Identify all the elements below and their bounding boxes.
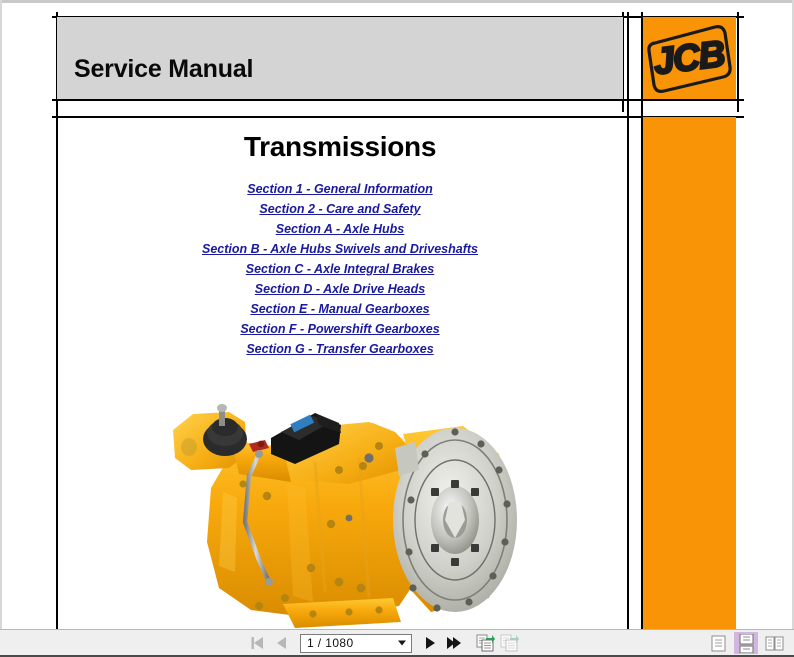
window-left-edge xyxy=(0,0,2,629)
continuous-page-view-button[interactable] xyxy=(734,632,758,654)
jcb-logo: JCB xyxy=(643,17,736,99)
first-page-icon xyxy=(250,636,266,650)
toc-link-section-f[interactable]: Section F - Powershift Gearboxes xyxy=(57,319,623,339)
toc-link-section-d[interactable]: Section D - Axle Drive Heads xyxy=(57,279,623,299)
toc-link-section-g[interactable]: Section G - Transfer Gearboxes xyxy=(57,339,623,359)
last-page-icon xyxy=(446,636,462,650)
page-sheet: Service Manual JCB Transmissions Sect xyxy=(0,0,794,629)
toc-link-section-b[interactable]: Section B - Axle Hubs Swivels and Drives… xyxy=(57,239,623,259)
previous-page-button[interactable] xyxy=(271,632,293,654)
toc-link-section-1[interactable]: Section 1 - General Information xyxy=(57,179,623,199)
next-view-icon xyxy=(500,634,520,652)
orange-side-column xyxy=(643,117,736,629)
single-page-view-icon xyxy=(711,635,726,652)
continuous-page-view-icon xyxy=(739,634,754,653)
facing-page-view-icon xyxy=(765,635,784,652)
window-top-edge xyxy=(0,0,794,3)
page-navigation-group: 1 / 1080 xyxy=(246,630,522,656)
document-viewport[interactable]: Service Manual JCB Transmissions Sect xyxy=(0,0,794,629)
view-mode-group xyxy=(704,630,788,656)
transmission-photo xyxy=(163,392,519,629)
toc-link-section-a[interactable]: Section A - Axle Hubs xyxy=(57,219,623,239)
content-title: Transmissions xyxy=(57,131,623,163)
previous-view-button[interactable] xyxy=(475,632,497,654)
pdf-toolbar: 1 / 1080 xyxy=(0,629,794,657)
previous-page-icon xyxy=(275,636,289,650)
crop-rule-content-top xyxy=(52,116,744,118)
table-of-contents: Section 1 - General Information Section … xyxy=(57,179,623,359)
facing-page-view-button[interactable] xyxy=(762,632,786,654)
previous-view-icon xyxy=(476,634,496,652)
last-page-button[interactable] xyxy=(443,632,465,654)
crop-rule-mid-right xyxy=(627,12,629,629)
single-page-view-button[interactable] xyxy=(706,632,730,654)
page-number-input[interactable]: 1 / 1080 xyxy=(300,634,412,653)
next-page-button[interactable] xyxy=(419,632,441,654)
next-view-button[interactable] xyxy=(499,632,521,654)
toc-link-section-e[interactable]: Section E - Manual Gearboxes xyxy=(57,299,623,319)
toc-link-section-2[interactable]: Section 2 - Care and Safety xyxy=(57,199,623,219)
next-page-icon xyxy=(423,636,437,650)
chevron-down-icon[interactable] xyxy=(398,641,406,646)
pdf-viewer-window: Service Manual JCB Transmissions Sect xyxy=(0,0,794,657)
first-page-button[interactable] xyxy=(247,632,269,654)
toc-link-section-c[interactable]: Section C - Axle Integral Brakes xyxy=(57,259,623,279)
crop-rule-header-bottom xyxy=(52,99,744,101)
page-title: Service Manual xyxy=(74,55,253,84)
page-number-value: 1 / 1080 xyxy=(301,636,354,650)
svg-text:JCB: JCB xyxy=(651,33,727,82)
crop-rule-far-right xyxy=(737,12,739,112)
